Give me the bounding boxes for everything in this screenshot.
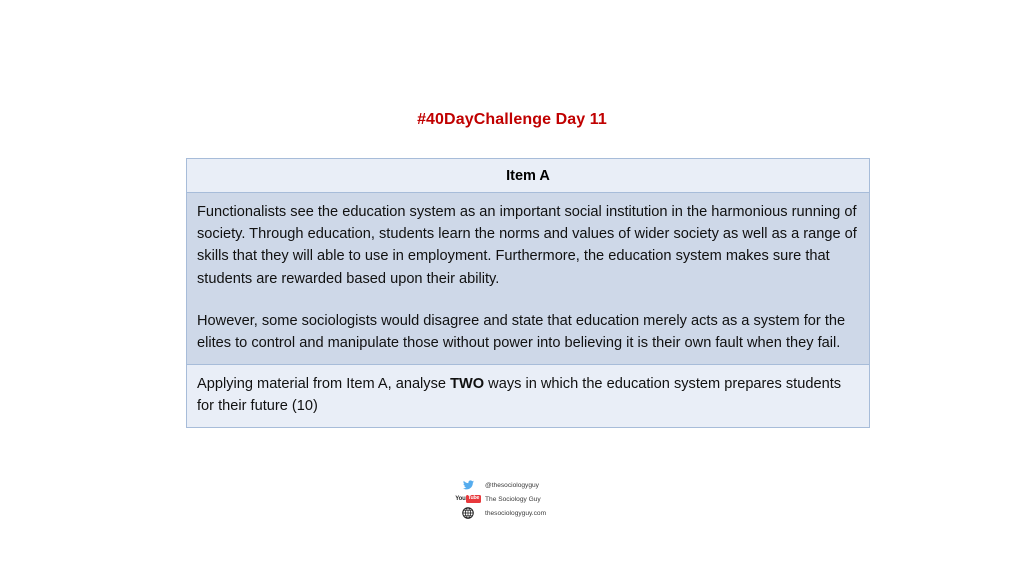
footer-label-twitter: @thesociologyguy bbox=[485, 482, 539, 489]
youtube-icon-tube-text: Tube bbox=[466, 495, 480, 502]
twitter-icon bbox=[455, 479, 481, 492]
social-footer: @thesociologyguy You Tube The Sociology … bbox=[455, 478, 675, 520]
question-text-before-bold: Applying material from Item A, analyse bbox=[197, 376, 450, 392]
footer-label-youtube: The Sociology Guy bbox=[485, 496, 541, 503]
item-a-body-cell: Functionalists see the education system … bbox=[187, 193, 869, 365]
exam-question-cell: Applying material from Item A, analyse T… bbox=[187, 365, 869, 427]
footer-row-twitter[interactable]: @thesociologyguy bbox=[455, 478, 675, 492]
item-a-table: Item A Functionalists see the education … bbox=[186, 158, 870, 428]
page-title: #40DayChallenge Day 11 bbox=[0, 111, 1024, 129]
item-a-paragraph-2: However, some sociologists would disagre… bbox=[197, 310, 859, 354]
footer-row-website[interactable]: thesociologyguy.com bbox=[455, 506, 675, 520]
youtube-icon: You Tube bbox=[455, 493, 481, 506]
globe-icon bbox=[455, 507, 481, 520]
question-emphasis-two: TWO bbox=[450, 376, 484, 392]
footer-row-youtube[interactable]: You Tube The Sociology Guy bbox=[455, 492, 675, 506]
footer-label-website: thesociologyguy.com bbox=[485, 510, 546, 517]
table-header-item-a: Item A bbox=[187, 159, 869, 193]
item-a-paragraph-1: Functionalists see the education system … bbox=[197, 201, 859, 290]
youtube-icon-you-text: You bbox=[455, 496, 465, 502]
paragraph-spacer bbox=[197, 290, 859, 310]
